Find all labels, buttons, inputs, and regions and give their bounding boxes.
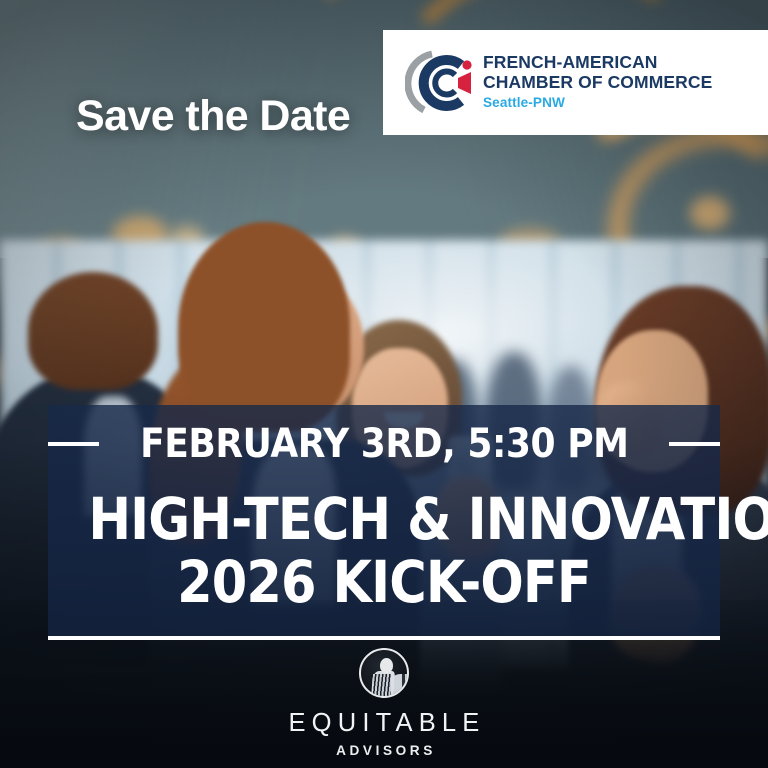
org-line-2: CHAMBER OF COMMERCE (483, 73, 712, 93)
event-date-text: FEBRUARY 3RD, 5:30 PM (140, 421, 628, 467)
sponsor-name: EQUITABLE (282, 709, 485, 738)
cci-monogram-icon (405, 47, 477, 119)
rule-left (48, 442, 99, 446)
emblem-figure-drapery (373, 674, 391, 698)
event-title-line-2: 2026 KICK-OFF (88, 548, 679, 616)
equitable-advisors-logo: EQUITABLE ADVISORS (0, 648, 768, 758)
event-date-row: FEBRUARY 3RD, 5:30 PM (48, 421, 720, 467)
emblem-figure-head (380, 658, 393, 673)
region-label: Seattle-PNW (483, 95, 712, 110)
equitable-statue-emblem-icon (359, 648, 409, 698)
facc-wordmark: FRENCH-AMERICAN CHAMBER OF COMMERCE Seat… (483, 53, 712, 111)
event-title-line-1: HIGH-TECH & INNOVATION (88, 485, 679, 553)
facc-logo-card: FRENCH-AMERICAN CHAMBER OF COMMERCE Seat… (383, 30, 768, 135)
rule-right (669, 442, 720, 446)
save-the-date-kicker: Save the Date (76, 92, 350, 141)
save-the-date-poster: Save the Date FRENCH-AMERICAN CHAMBER OF… (0, 0, 768, 768)
org-line-1: FRENCH-AMERICAN (483, 53, 712, 73)
sponsor-subtitle: ADVISORS (332, 743, 436, 758)
